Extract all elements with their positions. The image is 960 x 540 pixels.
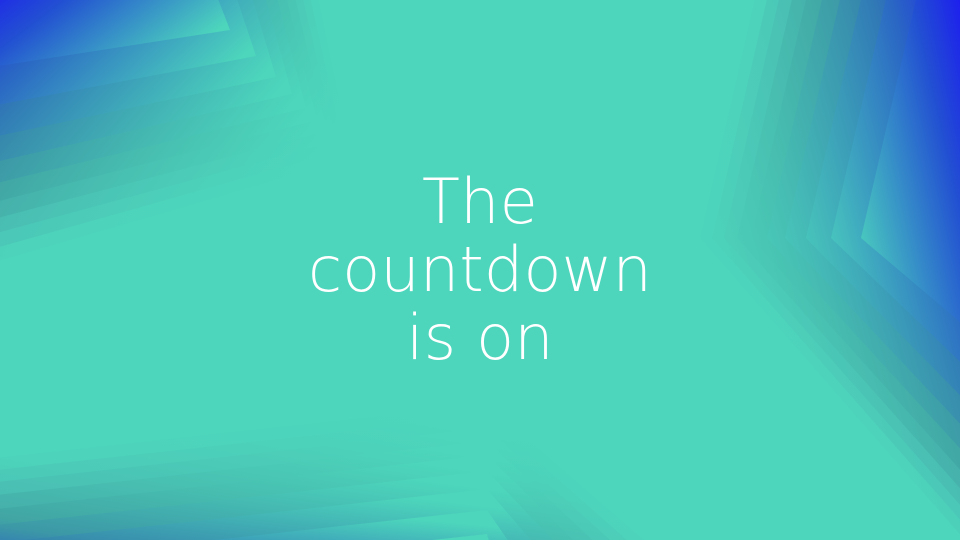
- headline-line-2: countdown: [0, 236, 960, 304]
- slide-canvas: The countdown is on: [0, 0, 960, 540]
- headline-line-3: is on: [0, 304, 960, 372]
- headline-line-1: The: [0, 168, 960, 236]
- headline: The countdown is on: [0, 168, 960, 372]
